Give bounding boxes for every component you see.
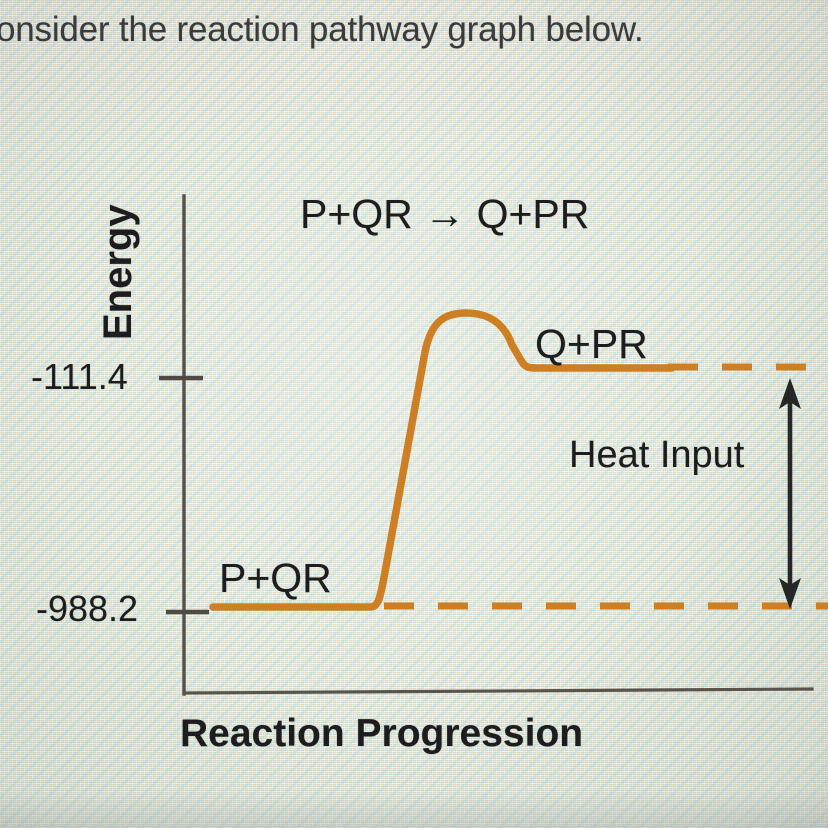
y-axis-title-text: Energy xyxy=(96,190,141,340)
y-tick-label-lower: -988.2 xyxy=(36,588,138,630)
x-axis-line xyxy=(184,689,812,693)
screenshot-canvas: onsider the reaction pathway graph below… xyxy=(0,0,828,828)
y-tick-label-upper: -111.4 xyxy=(31,356,128,398)
reaction-equation-title: P+QR → Q+PR xyxy=(300,191,589,238)
x-axis-title: Reaction Progression xyxy=(180,712,583,756)
reaction-pathway-chart xyxy=(0,0,828,828)
reactant-level-label: P+QR xyxy=(219,555,332,602)
product-level-label: Q+PR xyxy=(535,321,648,368)
heat-input-arrow xyxy=(779,378,801,609)
heat-input-label: Heat Input xyxy=(569,434,744,477)
